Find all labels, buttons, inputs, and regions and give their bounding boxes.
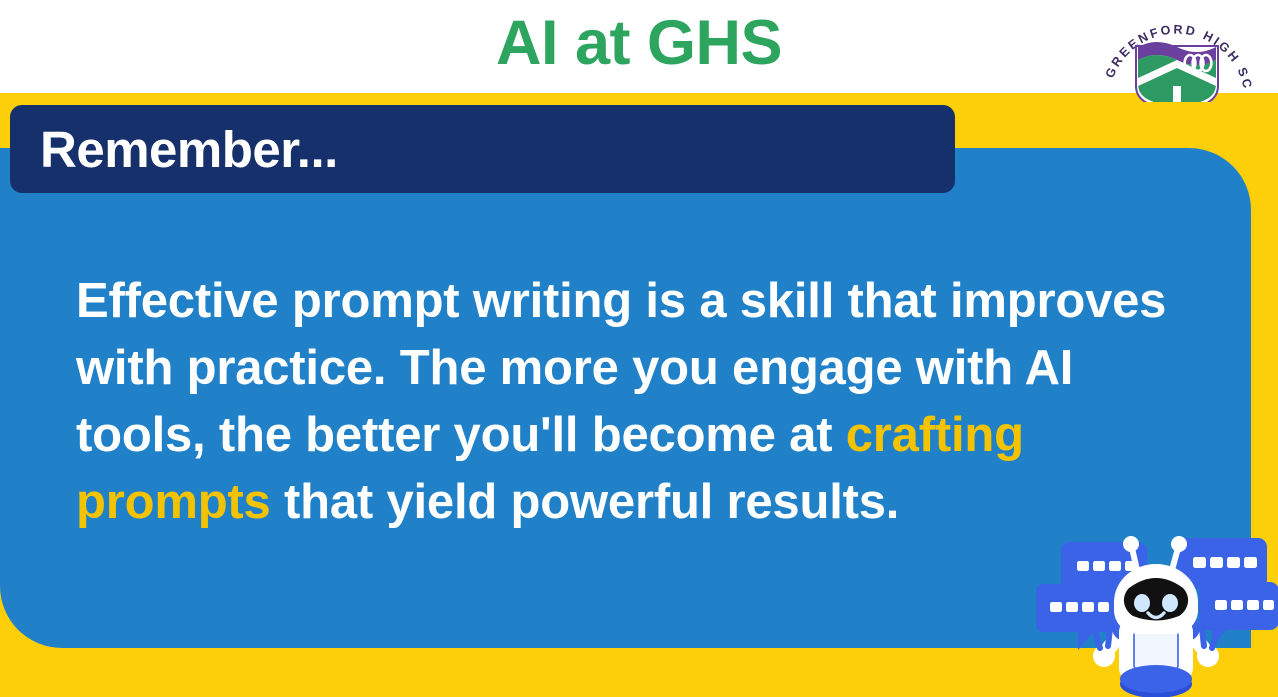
robot-base	[1120, 665, 1192, 697]
slide-canvas: AI at GHS GREENFORD HIGH SCHOOL	[0, 0, 1278, 697]
speech-bubble-mid-right	[1199, 582, 1278, 646]
section-heading-bar: Remember...	[10, 105, 955, 193]
robot-eye-right	[1162, 594, 1178, 612]
page-title: AI at GHS	[0, 4, 1278, 82]
speech-bubble-mid-left	[1036, 584, 1115, 650]
body-text-part-2: that yield powerful results.	[271, 475, 900, 529]
robot-eye-left	[1134, 594, 1150, 612]
header-band: AI at GHS GREENFORD HIGH SCHOOL	[0, 0, 1278, 93]
greenford-high-school-crest-logo: GREENFORD HIGH SCHOOL	[1094, 0, 1260, 102]
section-heading-text: Remember...	[10, 124, 338, 175]
chatbot-robot-mascot	[1036, 524, 1278, 697]
body-text: Effective prompt writing is a skill that…	[76, 268, 1186, 536]
